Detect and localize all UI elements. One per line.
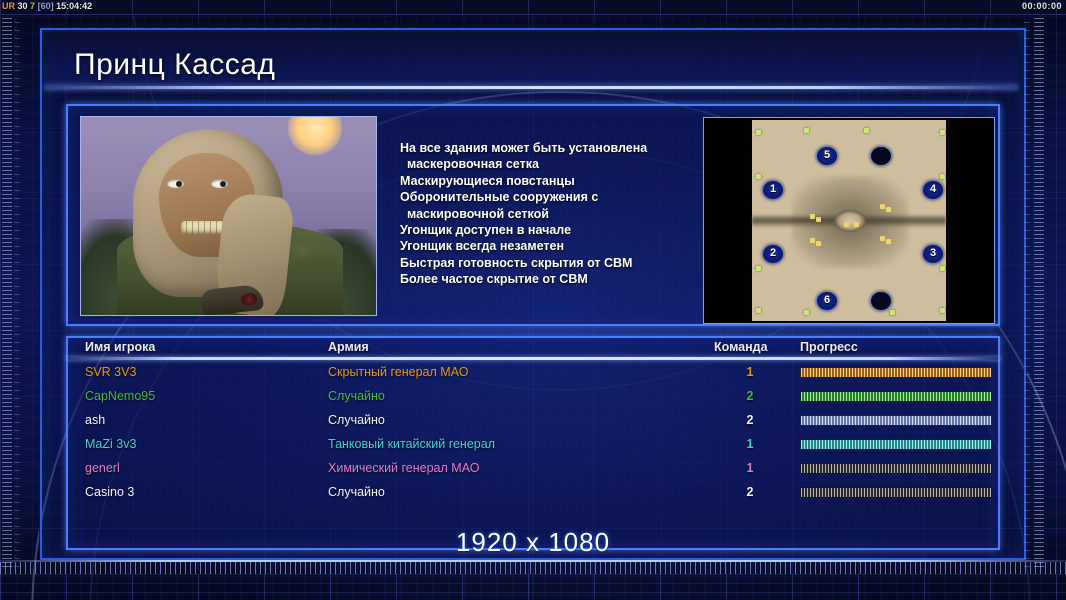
player-team: 2 — [737, 413, 763, 427]
player-progress-bar — [800, 439, 992, 450]
footer-divider — [0, 560, 1066, 562]
player-name: generl — [85, 461, 120, 475]
column-header-team: Команда — [714, 340, 768, 354]
column-header-name: Имя игрока — [85, 340, 155, 354]
map-start-position[interactable] — [870, 291, 892, 311]
player-progress-fill — [801, 488, 991, 497]
footer-grid — [0, 574, 1066, 600]
general-features-list: На все здания может быть установленамаск… — [400, 140, 690, 288]
map-supply-dock-icon — [940, 174, 945, 179]
map-supply-dock-icon — [940, 308, 945, 313]
system-prefix: UR — [2, 1, 15, 11]
map-oil-derrick-icon — [886, 207, 891, 212]
map-start-position[interactable]: 5 — [816, 146, 838, 166]
player-list-rows: SVR 3V3Скрытный генерал МАО1CapNemo95Слу… — [66, 362, 1000, 506]
map-start-position[interactable]: 4 — [922, 180, 944, 200]
player-name: ash — [85, 413, 105, 427]
player-progress-bar — [800, 367, 992, 378]
player-progress-bar — [800, 463, 992, 474]
match-clock: 00:00:00 — [1022, 1, 1062, 11]
player-name: SVR 3V3 — [85, 365, 136, 379]
system-value-1: 30 — [18, 1, 28, 11]
map-supply-dock-icon — [756, 174, 761, 179]
map-oil-derrick-icon — [880, 236, 885, 241]
table-row[interactable]: generlХимический генерал МАО1 — [66, 458, 1000, 482]
right-ruler-secondary — [1024, 14, 1030, 570]
map-preview: 514236 — [703, 117, 995, 324]
general-portrait — [80, 116, 377, 316]
map-oil-derrick-icon — [854, 222, 859, 227]
footer-ruler — [0, 562, 1066, 574]
map-supply-dock-icon — [940, 266, 945, 271]
general-feature-line: Угонщик всегда незаметен — [400, 238, 690, 254]
map-start-position[interactable]: 3 — [922, 244, 944, 264]
player-army: Химический генерал МАО — [328, 461, 479, 475]
map-supply-dock-icon — [756, 130, 761, 135]
player-army: Скрытный генерал МАО — [328, 365, 468, 379]
page-title: Принц Кассад — [74, 48, 275, 82]
portrait-pupil-left — [176, 181, 182, 187]
map-start-position[interactable]: 2 — [762, 244, 784, 264]
map-center-oasis — [834, 210, 866, 232]
player-team: 1 — [737, 365, 763, 379]
player-name: Casino 3 — [85, 485, 134, 499]
map-supply-dock-icon — [940, 130, 945, 135]
player-progress-bar — [800, 415, 992, 426]
player-progress-fill — [801, 416, 991, 425]
player-progress-bar — [800, 487, 992, 498]
right-ruler — [1034, 14, 1044, 570]
table-row[interactable]: Casino 3Случайно2 — [66, 482, 1000, 506]
system-value-2: 7 — [30, 1, 35, 11]
map-supply-dock-icon — [864, 128, 869, 133]
player-army: Случайно — [328, 413, 385, 427]
player-progress-fill — [801, 368, 991, 377]
table-row[interactable]: CapNemo95Случайно2 — [66, 386, 1000, 410]
map-supply-dock-icon — [756, 266, 761, 271]
player-army: Танковый китайский генерал — [328, 437, 495, 451]
player-team: 2 — [737, 485, 763, 499]
table-row[interactable]: ashСлучайно2 — [66, 410, 1000, 434]
title-underline — [44, 86, 1018, 89]
system-time: 15:04:42 — [56, 1, 92, 11]
game-lobby-screen: UR 30 7 [60] 15:04:42 00:00:00 Принц Кас… — [0, 0, 1066, 600]
left-ruler — [2, 14, 12, 570]
map-oil-derrick-icon — [844, 222, 849, 227]
map-start-position[interactable] — [870, 146, 892, 166]
column-header-progress: Прогресс — [800, 340, 858, 354]
player-name: MaZi 3v3 — [85, 437, 136, 451]
general-feature-line: Маскирующиеся повстанцы — [400, 173, 690, 189]
general-feature-line: Быстрая готовность скрытия от СВМ — [400, 255, 690, 271]
map-oil-derrick-icon — [816, 217, 821, 222]
portrait-teeth — [181, 221, 227, 234]
column-header-army: Армия — [328, 340, 369, 354]
map-oil-derrick-icon — [810, 238, 815, 243]
system-status-line: UR 30 7 [60] 15:04:42 — [2, 1, 92, 11]
player-progress-fill — [801, 464, 991, 473]
resolution-label: 1920 x 1080 — [0, 527, 1066, 558]
player-army: Случайно — [328, 485, 385, 499]
map-supply-dock-icon — [890, 310, 895, 315]
player-team: 1 — [737, 461, 763, 475]
player-list-header-underline — [66, 357, 1000, 360]
table-row[interactable]: SVR 3V3Скрытный генерал МАО1 — [66, 362, 1000, 386]
player-progress-fill — [801, 440, 991, 449]
map-start-position[interactable]: 6 — [816, 291, 838, 311]
left-ruler-secondary — [14, 14, 20, 570]
general-feature-line: На все здания может быть установлена — [400, 140, 690, 156]
player-team: 1 — [737, 437, 763, 451]
map-supply-dock-icon — [804, 128, 809, 133]
map-oil-derrick-icon — [880, 204, 885, 209]
player-name: CapNemo95 — [85, 389, 155, 403]
player-progress-bar — [800, 391, 992, 402]
player-progress-fill — [801, 392, 991, 401]
topbar-grid — [0, 0, 1066, 14]
general-feature-line: Более частое скрытие от СВМ — [400, 271, 690, 287]
general-feature-line: Угонщик доступен в начале — [400, 222, 690, 238]
general-feature-line: маскировочной сеткой — [400, 206, 690, 222]
general-feature-line: маскеровочная сетка — [400, 156, 690, 172]
map-supply-dock-icon — [756, 308, 761, 313]
map-oil-derrick-icon — [816, 241, 821, 246]
system-bracket-value: [60] — [38, 1, 54, 11]
player-army: Случайно — [328, 389, 385, 403]
map-oil-derrick-icon — [886, 239, 891, 244]
portrait-pupil-right — [220, 181, 226, 187]
table-row[interactable]: MaZi 3v3Танковый китайский генерал1 — [66, 434, 1000, 458]
player-team: 2 — [737, 389, 763, 403]
map-start-position[interactable]: 1 — [762, 180, 784, 200]
map-oil-derrick-icon — [810, 214, 815, 219]
general-feature-line: Оборонительные сооружения с — [400, 189, 690, 205]
map-supply-dock-icon — [804, 310, 809, 315]
system-topbar: UR 30 7 [60] 15:04:42 00:00:00 — [0, 0, 1066, 15]
